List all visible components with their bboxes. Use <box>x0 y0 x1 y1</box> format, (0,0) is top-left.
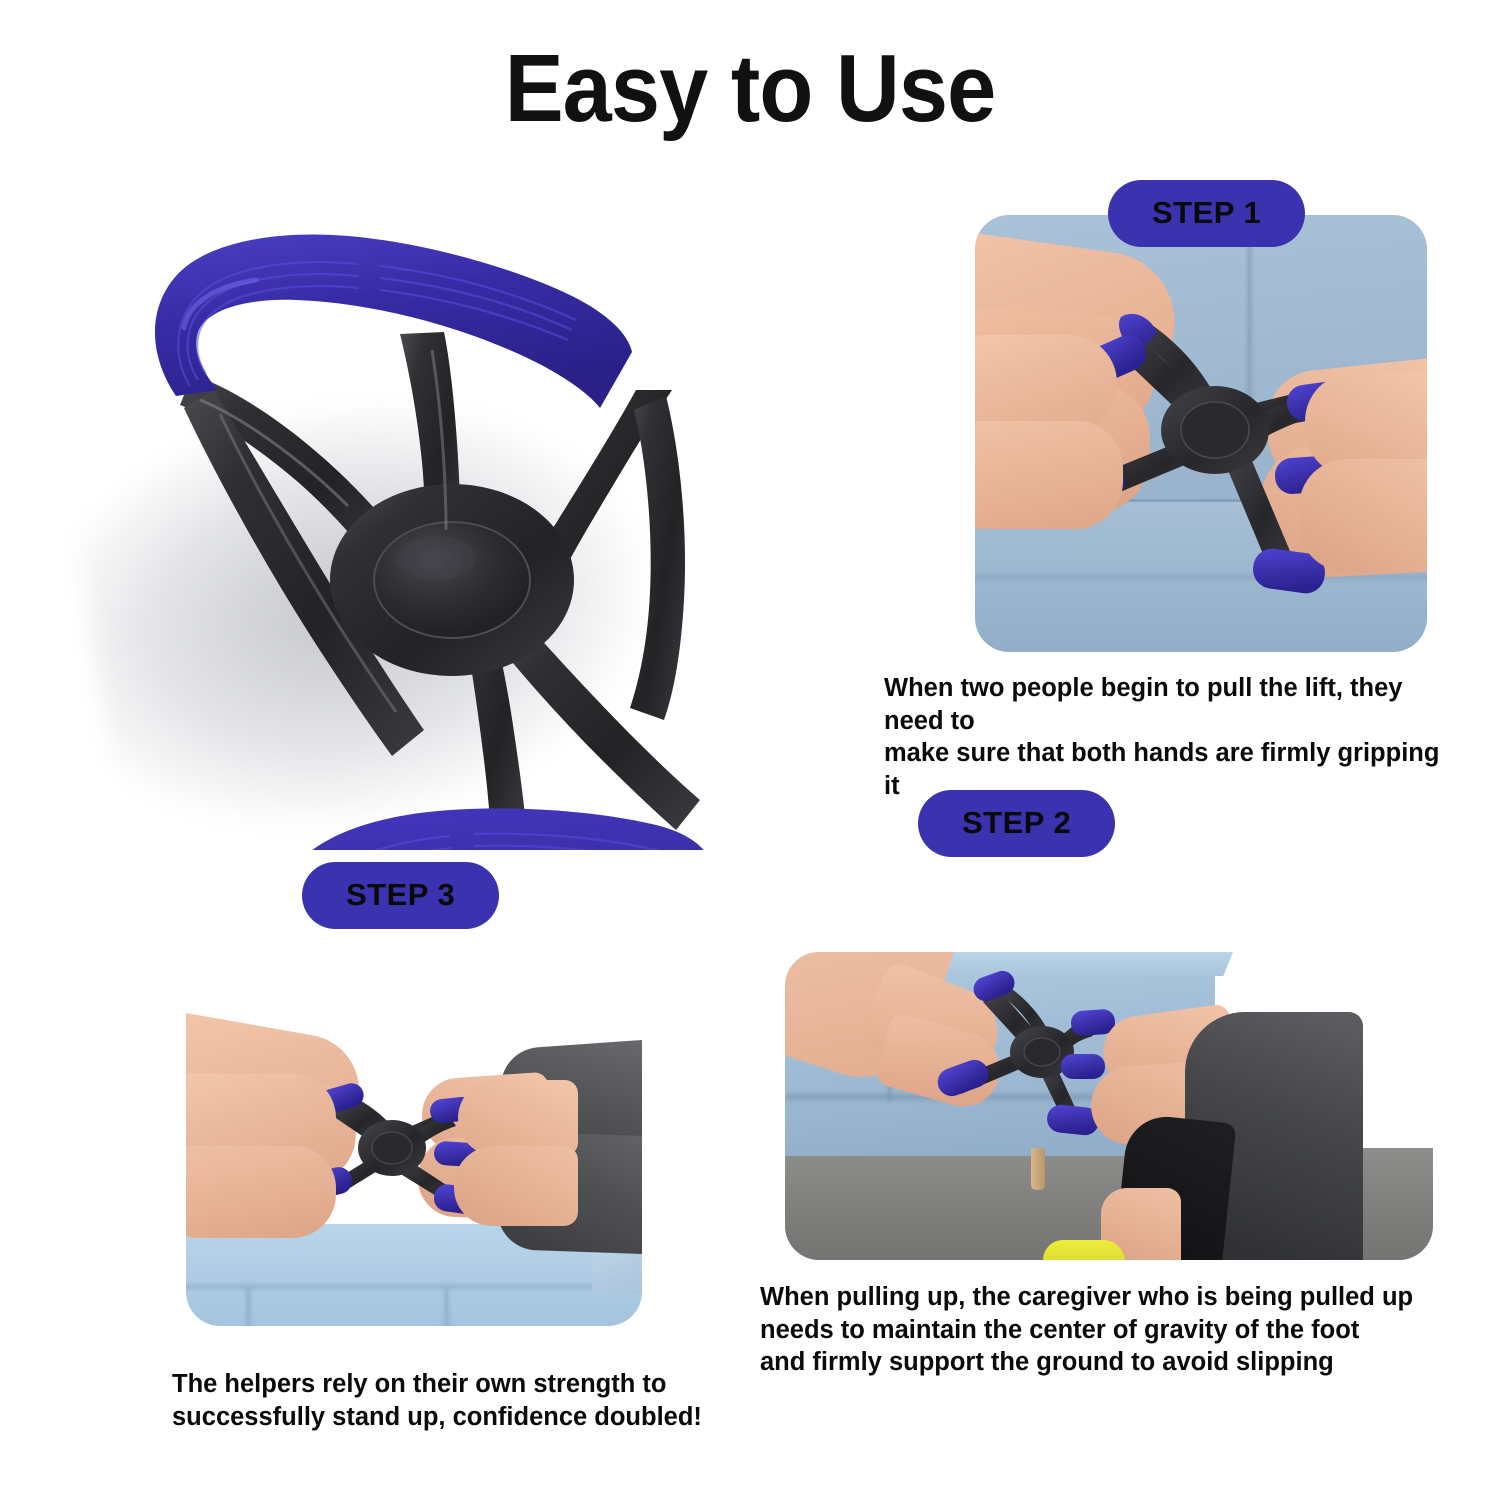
hero-product-image <box>80 200 720 850</box>
step-2-badge: STEP 2 <box>918 790 1115 857</box>
step-1-photo <box>975 215 1427 652</box>
fist-front-left2-step3 <box>186 1146 336 1238</box>
step-2-caption: When pulling up, the caregiver who is be… <box>760 1281 1430 1379</box>
step-3-caption: The helpers rely on their own strength t… <box>172 1368 732 1433</box>
fist-front-right-lower <box>1299 459 1427 571</box>
step-3-photo <box>186 898 642 1326</box>
step-1-caption: When two people begin to pull the lift, … <box>884 672 1444 803</box>
step-1-badge: STEP 1 <box>1108 180 1305 247</box>
fist-front-left-lower <box>975 421 1123 529</box>
slipper-yellow <box>1043 1240 1125 1260</box>
fist-front-left-upper <box>975 335 1117 435</box>
step-2-photo <box>785 952 1433 1260</box>
fist-front-right2-step3 <box>454 1146 578 1226</box>
page-title: Easy to Use <box>60 34 1440 144</box>
product-illustration <box>80 200 720 850</box>
step-3-badge: STEP 3 <box>302 862 499 929</box>
fist-front-right-step3 <box>458 1080 578 1156</box>
